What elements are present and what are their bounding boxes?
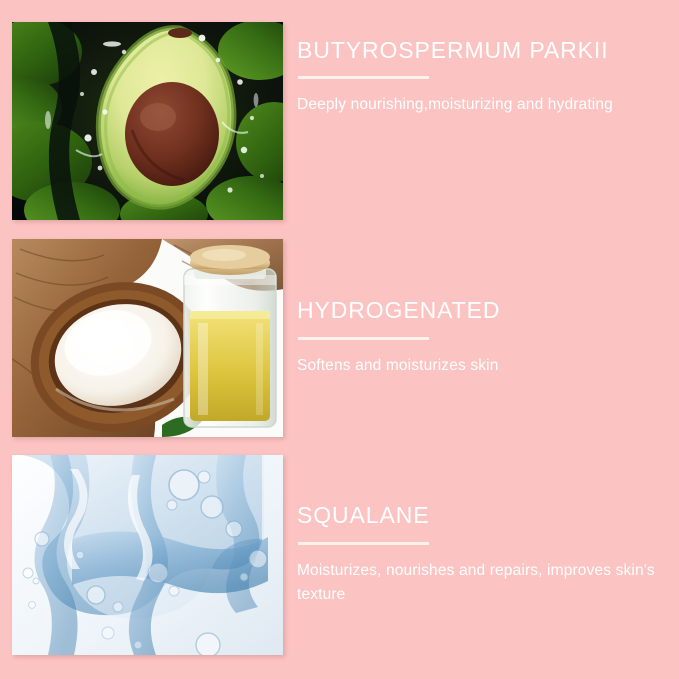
ingredient-description: Softens and moisturizes skin <box>297 354 669 378</box>
ingredient-copy: HYDROGENATED Softens and moisturizes ski… <box>297 239 672 437</box>
ingredient-copy: BUTYROSPERMUM PARKII Deeply nourishing,m… <box>297 22 672 236</box>
ingredient-infographic: BUTYROSPERMUM PARKII Deeply nourishing,m… <box>0 0 679 679</box>
ingredient-description: Moisturizes, nourishes and repairs, impr… <box>297 559 669 607</box>
ingredient-row: BUTYROSPERMUM PARKII Deeply nourishing,m… <box>0 22 679 220</box>
ingredient-description: Deeply nourishing,moisturizing and hydra… <box>297 93 669 117</box>
title-divider <box>298 76 429 79</box>
title-divider <box>298 337 429 340</box>
coconut-oil-illustration <box>12 239 283 437</box>
ingredient-title: HYDROGENATED <box>297 298 672 323</box>
gel-droplets-illustration <box>12 455 283 655</box>
avocado-illustration <box>12 22 283 220</box>
title-divider <box>298 542 429 545</box>
ingredient-image-squalane <box>12 455 283 655</box>
ingredient-row: HYDROGENATED Softens and moisturizes ski… <box>0 239 679 437</box>
ingredient-title: BUTYROSPERMUM PARKII <box>297 38 672 63</box>
ingredient-copy: SQUALANE Moisturizes, nourishes and repa… <box>297 455 672 655</box>
ingredient-image-coconut <box>12 239 283 437</box>
ingredient-row: SQUALANE Moisturizes, nourishes and repa… <box>0 455 679 655</box>
ingredient-title: SQUALANE <box>297 503 672 528</box>
ingredient-image-avocado <box>12 22 283 220</box>
